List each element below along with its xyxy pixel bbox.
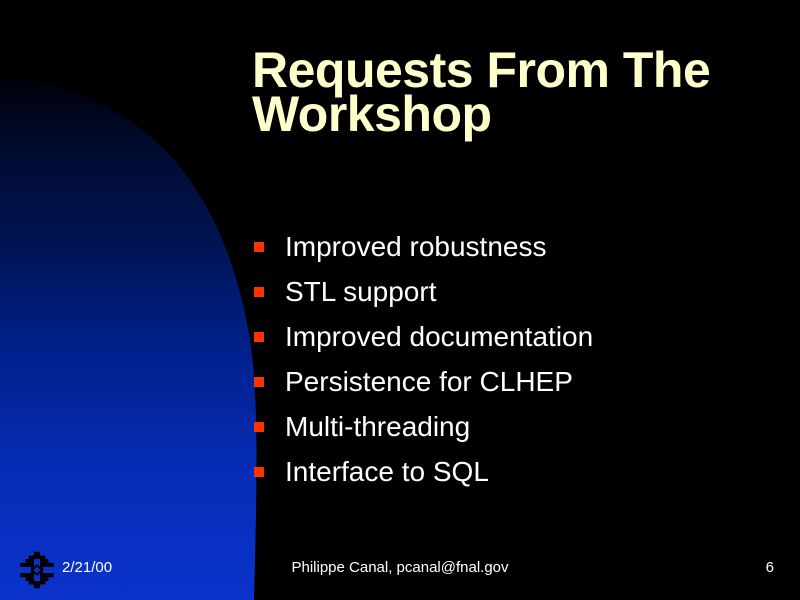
footer-page-number: 6 — [766, 559, 774, 577]
list-item-label: Interface to SQL — [285, 457, 489, 487]
list-item-label: STL support — [285, 277, 436, 307]
square-bullet-icon — [254, 332, 264, 342]
square-bullet-icon — [254, 377, 264, 387]
square-bullet-icon — [254, 242, 264, 252]
list-item: Improved robustness — [254, 224, 784, 269]
footer-author: Philippe Canal, pcanal@fnal.gov — [0, 559, 800, 577]
list-item-label: Multi-threading — [285, 412, 470, 442]
square-bullet-icon — [254, 467, 264, 477]
square-bullet-icon — [254, 287, 264, 297]
page-title: Requests From The Workshop — [252, 48, 772, 136]
slide-canvas: Requests From The Workshop Improved robu… — [0, 0, 800, 600]
list-item-label: Improved robustness — [285, 232, 546, 262]
square-bullet-icon — [254, 422, 264, 432]
list-item-label: Persistence for CLHEP — [285, 367, 573, 397]
bullet-list: Improved robustness STL support Improved… — [254, 224, 784, 494]
list-item: Multi-threading — [254, 404, 784, 449]
list-item: Interface to SQL — [254, 449, 784, 494]
list-item: Persistence for CLHEP — [254, 359, 784, 404]
list-item-label: Improved documentation — [285, 322, 593, 352]
list-item: Improved documentation — [254, 314, 784, 359]
list-item: STL support — [254, 269, 784, 314]
